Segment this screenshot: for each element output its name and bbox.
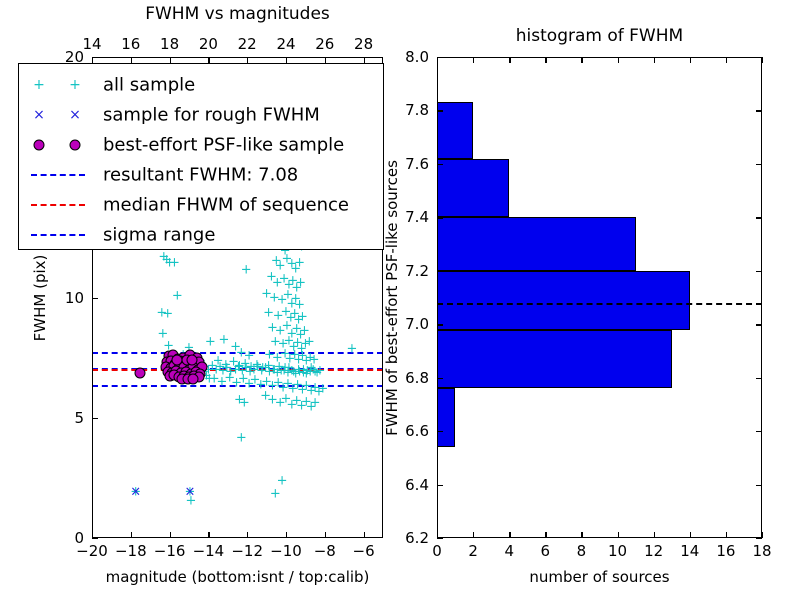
right-xaxis-label: number of sources bbox=[437, 568, 762, 586]
right-ytick-right bbox=[756, 271, 762, 272]
left-xticklabel-bottom: −16 bbox=[154, 542, 186, 560]
legend-label: best-effort PSF-like sample bbox=[103, 135, 344, 156]
right-xticklabel: 0 bbox=[432, 542, 442, 560]
legend-marker-circle-icon bbox=[70, 140, 81, 151]
legend-item-2[interactable]: best-effort PSF-like sample bbox=[19, 130, 383, 160]
left-xticklabel-top: 22 bbox=[238, 35, 257, 53]
right-yticklabel: 6.8 bbox=[405, 369, 429, 387]
left-xticklabel-top: 20 bbox=[199, 35, 218, 53]
right-yticklabel: 8.0 bbox=[405, 48, 429, 66]
right-ytick-right bbox=[756, 217, 762, 218]
right-yticklabel: 7.4 bbox=[405, 208, 429, 226]
right-ytick-right bbox=[756, 378, 762, 379]
left-xtick-bottom bbox=[247, 532, 248, 538]
right-yticklabel: 7.2 bbox=[405, 262, 429, 280]
right-xtick-top bbox=[473, 57, 474, 63]
right-xtick bbox=[509, 532, 510, 538]
right-yticklabel: 6.4 bbox=[405, 476, 429, 494]
right-xtick bbox=[581, 532, 582, 538]
legend-item-1[interactable]: ××sample for rough FWHM bbox=[19, 100, 383, 130]
left-xtick-bottom bbox=[286, 532, 287, 538]
left-yticklabel: 10 bbox=[65, 289, 84, 307]
legend-marker-dashed-line-icon bbox=[31, 174, 85, 176]
figure-canvas: ++++++++++++++++++++++++++++++++++++++++… bbox=[0, 0, 800, 600]
left-ytick bbox=[92, 57, 98, 58]
left-xaxis-label: magnitude (bottom:isnt / top:calib) bbox=[92, 568, 383, 586]
right-ytick bbox=[437, 217, 443, 218]
left-xticklabel-bottom: −14 bbox=[193, 542, 225, 560]
left-ytick bbox=[92, 538, 98, 539]
legend-item-5[interactable]: sigma range bbox=[19, 220, 383, 250]
right-ytick-right bbox=[756, 324, 762, 325]
right-yticklabel: 7.0 bbox=[405, 315, 429, 333]
right-ytick bbox=[437, 431, 443, 432]
right-yticklabel: 6.6 bbox=[405, 422, 429, 440]
left-xtick-bottom bbox=[325, 532, 326, 538]
right-xticklabel: 12 bbox=[644, 542, 663, 560]
right-ytick-right bbox=[756, 110, 762, 111]
right-xticklabel: 4 bbox=[504, 542, 514, 560]
left-xtick-bottom bbox=[208, 532, 209, 538]
right-xtick bbox=[726, 532, 727, 538]
left-xticklabel-top: 14 bbox=[82, 35, 101, 53]
right-ytick-right bbox=[756, 538, 762, 539]
right-yticklabel: 7.8 bbox=[405, 101, 429, 119]
legend-label: sigma range bbox=[103, 225, 215, 246]
right-xtick-top bbox=[545, 57, 546, 63]
left-xtick-bottom bbox=[170, 532, 171, 538]
right-xtick-top bbox=[726, 57, 727, 63]
right-ytick-right bbox=[756, 164, 762, 165]
right-xticklabel: 6 bbox=[541, 542, 551, 560]
right-ytick-right bbox=[756, 57, 762, 58]
right-plot-frame bbox=[437, 57, 762, 538]
right-xticklabel: 10 bbox=[608, 542, 627, 560]
right-yticklabel: 7.6 bbox=[405, 155, 429, 173]
left-xticklabel-bottom: −10 bbox=[270, 542, 302, 560]
legend-label: sample for rough FWHM bbox=[103, 105, 320, 126]
left-xticklabel-bottom: −18 bbox=[115, 542, 147, 560]
right-xtick-top bbox=[581, 57, 582, 63]
right-ytick bbox=[437, 378, 443, 379]
right-xtick bbox=[690, 532, 691, 538]
right-xticklabel: 2 bbox=[468, 542, 478, 560]
right-ytick bbox=[437, 324, 443, 325]
right-ytick bbox=[437, 271, 443, 272]
right-xtick-top bbox=[509, 57, 510, 63]
left-xtick-bottom bbox=[131, 532, 132, 538]
legend-marker-plus-icon: + bbox=[33, 77, 45, 93]
left-yaxis-label: FWHM (pix) bbox=[31, 254, 49, 341]
left-plot-title: FWHM vs magnitudes bbox=[92, 4, 383, 24]
right-xtick bbox=[545, 532, 546, 538]
right-xtick-top bbox=[690, 57, 691, 63]
left-xticklabel-bottom: −12 bbox=[231, 542, 263, 560]
right-xtick bbox=[762, 532, 763, 538]
legend-item-4[interactable]: median FHWM of sequence bbox=[19, 190, 383, 220]
left-xtick-bottom bbox=[364, 532, 365, 538]
right-yaxis-label: FWHM of best-effort PSF-like sources bbox=[383, 160, 401, 436]
plot-legend: ++all sample××sample for rough FWHMbest-… bbox=[18, 63, 384, 250]
right-xtick-top bbox=[762, 57, 763, 63]
legend-label: median FHWM of sequence bbox=[103, 195, 349, 216]
right-ytick bbox=[437, 538, 443, 539]
legend-marker-cross-icon: × bbox=[33, 107, 45, 123]
left-ytick bbox=[92, 298, 98, 299]
left-ytick bbox=[92, 418, 98, 419]
right-ytick bbox=[437, 57, 443, 58]
legend-label: resultant FWHM: 7.08 bbox=[103, 165, 298, 186]
right-xtick bbox=[618, 532, 619, 538]
right-xticklabel: 8 bbox=[577, 542, 587, 560]
right-ytick-right bbox=[756, 431, 762, 432]
left-yticklabel: 5 bbox=[74, 409, 84, 427]
right-plot-title: histogram of FWHM bbox=[437, 26, 762, 46]
right-yticklabel: 6.2 bbox=[405, 529, 429, 547]
right-xtick-top bbox=[654, 57, 655, 63]
left-yticklabel: 0 bbox=[74, 529, 84, 547]
right-xticklabel: 14 bbox=[680, 542, 699, 560]
right-xticklabel: 16 bbox=[716, 542, 735, 560]
right-ytick bbox=[437, 485, 443, 486]
right-xtick bbox=[654, 532, 655, 538]
legend-item-3[interactable]: resultant FWHM: 7.08 bbox=[19, 160, 383, 190]
legend-label: all sample bbox=[103, 75, 195, 96]
legend-marker-plus-icon: + bbox=[69, 77, 81, 93]
legend-marker-dashed-line-icon bbox=[31, 204, 85, 206]
left-xticklabel-top: 16 bbox=[121, 35, 140, 53]
legend-item-0[interactable]: ++all sample bbox=[19, 70, 383, 100]
right-xtick bbox=[473, 532, 474, 538]
right-xtick-top bbox=[618, 57, 619, 63]
left-xticklabel-top: 26 bbox=[315, 35, 334, 53]
left-xticklabel-top: 18 bbox=[160, 35, 179, 53]
right-ytick bbox=[437, 164, 443, 165]
left-xticklabel-top: 24 bbox=[276, 35, 295, 53]
left-xticklabel-top: 28 bbox=[354, 35, 373, 53]
right-ytick bbox=[437, 110, 443, 111]
right-ytick-right bbox=[756, 485, 762, 486]
left-xticklabel-bottom: −6 bbox=[353, 542, 375, 560]
legend-marker-circle-icon bbox=[34, 140, 45, 151]
legend-marker-cross-icon: × bbox=[69, 107, 81, 123]
legend-marker-dashdot-line-icon bbox=[31, 234, 85, 236]
left-xticklabel-bottom: −8 bbox=[314, 542, 336, 560]
right-xticklabel: 18 bbox=[752, 542, 771, 560]
